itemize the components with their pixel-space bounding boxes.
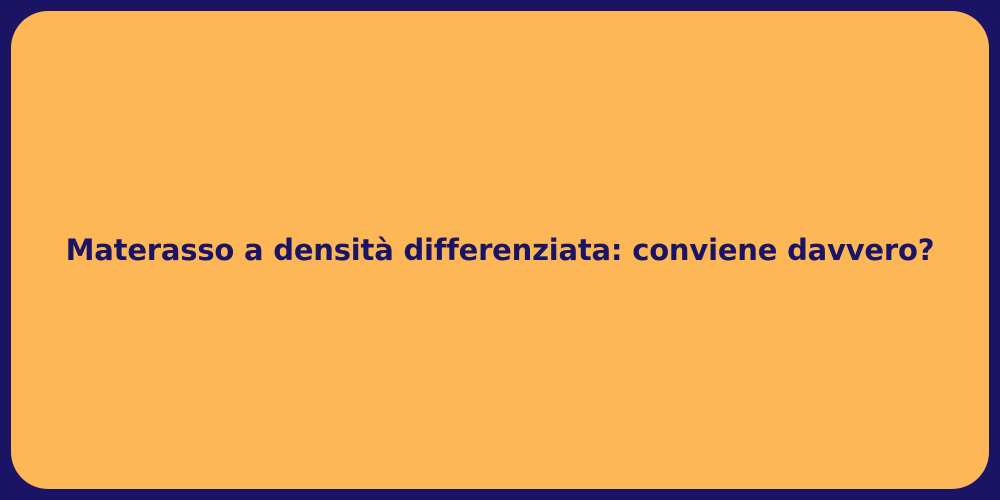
banner-panel: Materasso a densità differenziata: convi… xyxy=(11,11,989,489)
banner-title: Materasso a densità differenziata: convi… xyxy=(26,232,975,268)
banner-frame: Materasso a densità differenziata: convi… xyxy=(0,0,1000,500)
